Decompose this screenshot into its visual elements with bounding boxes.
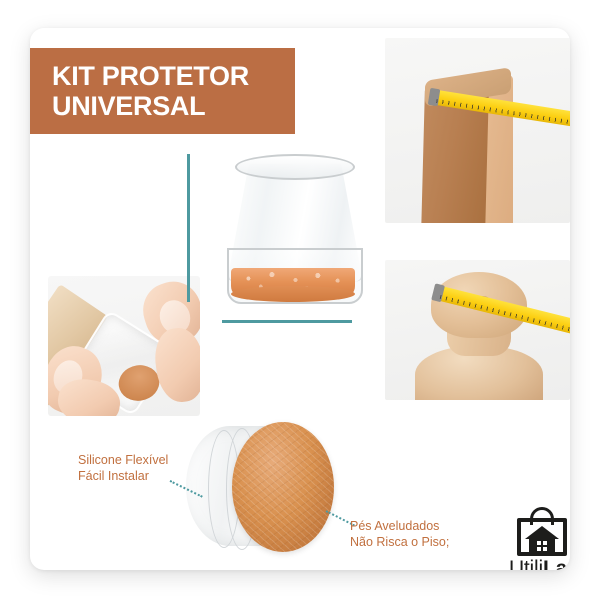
brand-word-light: Utili xyxy=(509,557,543,570)
cap-pad-bottom-edge xyxy=(231,286,355,302)
round-felt-pad xyxy=(232,422,334,552)
photo-hands-installing-cap xyxy=(48,276,200,416)
accent-line-vertical xyxy=(187,154,190,302)
header-banner: KIT PROTETOR UNIVERSAL xyxy=(30,48,295,134)
accent-line-horizontal xyxy=(222,320,352,323)
photo-felt-pad-detail xyxy=(180,410,340,570)
house-icon xyxy=(525,526,559,554)
promo-card: KIT PROTETOR UNIVERSAL xyxy=(30,28,570,570)
brand-wordmark: UtiliLar xyxy=(496,558,570,570)
felt-texture xyxy=(232,422,334,552)
brand-word-bold: Lar xyxy=(543,557,570,570)
tape-hook-icon xyxy=(431,283,445,302)
cap-top-rim xyxy=(235,154,355,180)
house-walls-icon xyxy=(529,538,555,554)
page-title: KIT PROTETOR UNIVERSAL xyxy=(52,61,249,121)
photo-hero-silicone-cap xyxy=(205,140,380,320)
callout-pes-aveludados: Pés Aveludados Não Risca o Piso; xyxy=(350,518,449,550)
photo-round-leg-measurement xyxy=(385,260,570,400)
shopping-bag-house-icon xyxy=(511,506,570,556)
brand-logo: UtiliLar UTENSÍLIOS & DECORAÇÕES xyxy=(496,506,570,570)
callout-silicone-flexivel: Silicone Flexível Fácil Instalar xyxy=(78,452,168,484)
tape-hook-icon xyxy=(428,88,441,106)
product-promo-image: KIT PROTETOR UNIVERSAL xyxy=(0,0,600,600)
photo-square-leg-measurement xyxy=(385,38,570,223)
house-window-icon xyxy=(537,541,547,551)
